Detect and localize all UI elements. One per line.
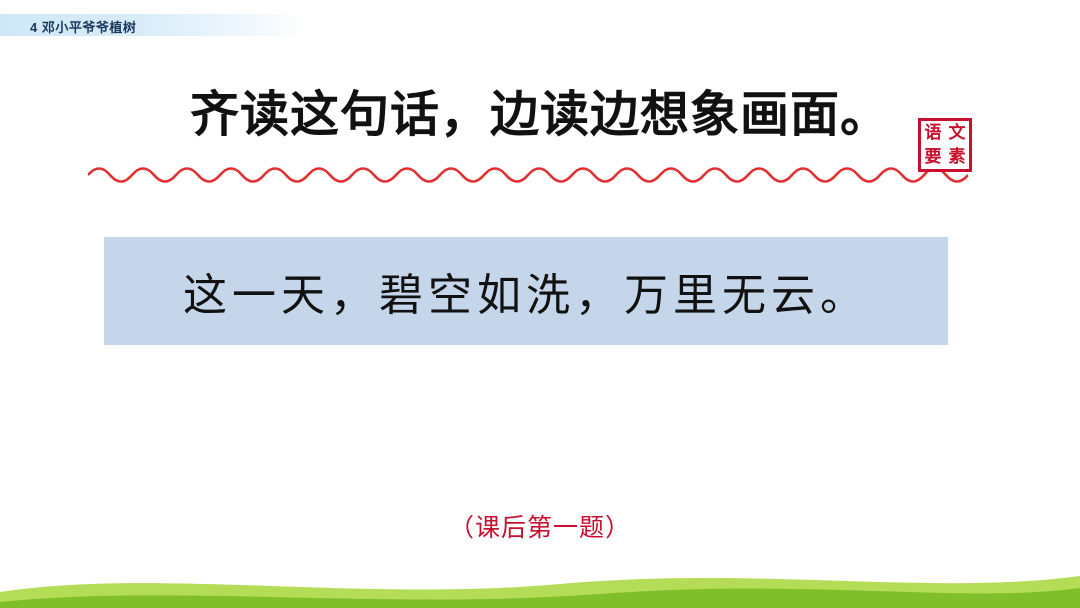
wavy-underline-icon bbox=[88, 162, 968, 188]
page-title: 4 邓小平爷爷植树 bbox=[30, 17, 136, 36]
footnote-text: （课后第一题） bbox=[449, 513, 631, 542]
seal-char-3: 要 bbox=[921, 145, 945, 169]
seal-stamp: 语 文 要 素 bbox=[918, 118, 972, 172]
seal-char-1: 语 bbox=[921, 121, 945, 145]
grass-icon bbox=[0, 562, 1080, 608]
quote-box: 这一天，碧空如洗，万里无云。 bbox=[104, 237, 948, 345]
bottom-decoration bbox=[0, 562, 1080, 608]
prompt-text: 齐读这句话，边读边想象画面。 bbox=[190, 88, 890, 142]
wavy-underline bbox=[88, 162, 968, 188]
seal-char-2: 文 bbox=[945, 121, 969, 145]
footnote: （课后第一题） bbox=[0, 508, 1080, 544]
seal-char-4: 素 bbox=[945, 145, 969, 169]
quote-text: 这一天，碧空如洗，万里无云。 bbox=[183, 259, 869, 323]
